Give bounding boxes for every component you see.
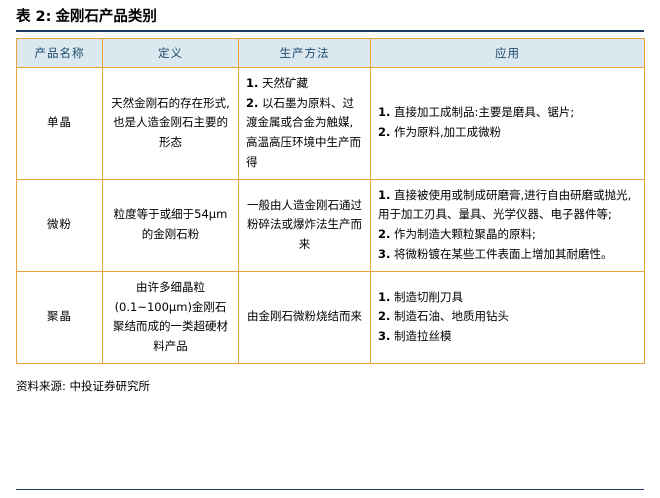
list-item-number: 1. bbox=[378, 188, 390, 202]
list-item-number: 1. bbox=[378, 105, 390, 119]
list-item: 1. 制造切削刀具 bbox=[378, 288, 637, 308]
cell-application: 1. 直接被使用或制成研磨膏,进行自由研磨或抛光,用于加工刃具、量具、光学仪器、… bbox=[371, 179, 645, 271]
column-header-production-method: 生产方法 bbox=[239, 38, 371, 67]
list-item-text: 制造切削刀具 bbox=[394, 290, 463, 304]
list-item-text: 作为制造大颗粒聚晶的原料; bbox=[394, 227, 536, 241]
source-label: 资料来源: bbox=[16, 379, 66, 393]
list-item-text: 天然矿藏 bbox=[262, 76, 308, 90]
table-caption-text: 金刚石产品类别 bbox=[55, 8, 157, 27]
table-row: 微粉 粒度等于或细于54μm 的金刚石粉 一般由人造金刚石通过粉碎法或爆炸法生产… bbox=[17, 179, 645, 271]
list-item-number: 2. bbox=[378, 309, 390, 323]
list-item-text: 将微粉镀在某些工件表面上增加其耐磨性。 bbox=[394, 247, 613, 261]
list-item-number: 3. bbox=[378, 247, 390, 261]
cell-production-method: 一般由人造金刚石通过粉碎法或爆炸法生产而来 bbox=[239, 179, 371, 271]
list-item: 3. 将微粉镀在某些工件表面上增加其耐磨性。 bbox=[378, 245, 637, 265]
list-item: 2. 以石墨为原料、过渡金属或合金为触媒,高温高压环境中生产而得 bbox=[246, 94, 363, 173]
cell-production-method: 1. 天然矿藏 2. 以石墨为原料、过渡金属或合金为触媒,高温高压环境中生产而得 bbox=[239, 67, 371, 179]
cell-definition: 由许多细晶粒(0.1~100μm)金刚石聚结而成的一类超硬材料产品 bbox=[103, 271, 239, 363]
cell-application: 1. 直接加工成制品:主要是磨具、锯片; 2. 作为原料,加工成微粉 bbox=[371, 67, 645, 179]
column-header-product-name: 产品名称 bbox=[17, 38, 103, 67]
list-item-number: 2. bbox=[378, 227, 390, 241]
document-page: 表 2: 金刚石产品类别 产品名称 定义 生产方法 应用 单晶 天然金刚石的存在… bbox=[0, 0, 660, 498]
list-item: 1. 天然矿藏 bbox=[246, 74, 363, 94]
list-item: 2. 作为原料,加工成微粉 bbox=[378, 123, 637, 143]
table-caption-label: 表 2: bbox=[16, 8, 51, 27]
cell-definition: 天然金刚石的存在形式,也是人造金刚石主要的形态 bbox=[103, 67, 239, 179]
cell-product-name: 单晶 bbox=[17, 67, 103, 179]
list-item-text: 以石墨为原料、过渡金属或合金为触媒,高温高压环境中生产而得 bbox=[246, 96, 361, 169]
table-header-row: 产品名称 定义 生产方法 应用 bbox=[17, 38, 645, 67]
list-item: 2. 作为制造大颗粒聚晶的原料; bbox=[378, 225, 637, 245]
cell-definition: 粒度等于或细于54μm 的金刚石粉 bbox=[103, 179, 239, 271]
table-row: 聚晶 由许多细晶粒(0.1~100μm)金刚石聚结而成的一类超硬材料产品 由金刚… bbox=[17, 271, 645, 363]
list-item-text: 直接加工成制品:主要是磨具、锯片; bbox=[394, 105, 574, 119]
list-item-number: 1. bbox=[246, 76, 258, 90]
column-header-definition: 定义 bbox=[103, 38, 239, 67]
list-item-text: 制造拉丝模 bbox=[394, 329, 452, 343]
list-item: 1. 直接被使用或制成研磨膏,进行自由研磨或抛光,用于加工刃具、量具、光学仪器、… bbox=[378, 186, 637, 226]
footer-divider bbox=[16, 489, 644, 490]
list-item-text: 制造石油、地质用钻头 bbox=[394, 309, 509, 323]
list-item-text: 作为原料,加工成微粉 bbox=[394, 125, 501, 139]
cell-product-name: 聚晶 bbox=[17, 271, 103, 363]
source-note: 资料来源: 中投证券研究所 bbox=[16, 378, 644, 394]
list-item: 1. 直接加工成制品:主要是磨具、锯片; bbox=[378, 103, 637, 123]
cell-application: 1. 制造切削刀具 2. 制造石油、地质用钻头 3. 制造拉丝模 bbox=[371, 271, 645, 363]
diamond-product-category-table: 产品名称 定义 生产方法 应用 单晶 天然金刚石的存在形式,也是人造金刚石主要的… bbox=[16, 38, 645, 364]
cell-production-method: 由金刚石微粉烧结而来 bbox=[239, 271, 371, 363]
table-caption: 表 2: 金刚石产品类别 bbox=[16, 8, 644, 32]
list-item-number: 3. bbox=[378, 329, 390, 343]
list-item: 2. 制造石油、地质用钻头 bbox=[378, 307, 637, 327]
list-item-text: 直接被使用或制成研磨膏,进行自由研磨或抛光,用于加工刃具、量具、光学仪器、电子器… bbox=[378, 188, 631, 222]
list-item-number: 1. bbox=[378, 290, 390, 304]
source-value: 中投证券研究所 bbox=[70, 379, 151, 393]
column-header-application: 应用 bbox=[371, 38, 645, 67]
list-item: 3. 制造拉丝模 bbox=[378, 327, 637, 347]
list-item-number: 2. bbox=[246, 96, 258, 110]
table-row: 单晶 天然金刚石的存在形式,也是人造金刚石主要的形态 1. 天然矿藏 2. 以石… bbox=[17, 67, 645, 179]
cell-product-name: 微粉 bbox=[17, 179, 103, 271]
list-item-number: 2. bbox=[378, 125, 390, 139]
